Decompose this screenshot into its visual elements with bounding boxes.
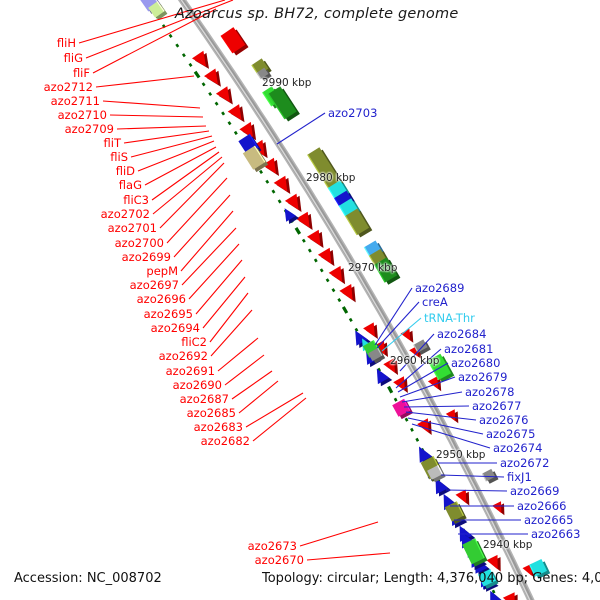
gene-label-left-19[interactable]: azo2695 xyxy=(144,308,193,320)
gene-feature[interactable] xyxy=(192,51,209,69)
gene-label-left-21[interactable]: fliC2 xyxy=(181,336,207,348)
gene-label-left-6[interactable]: azo2709 xyxy=(65,123,114,135)
gene-label-right-13[interactable]: fixJ1 xyxy=(507,471,532,483)
gene-label-left-10[interactable]: flaG xyxy=(119,179,142,191)
gene-label-right-1[interactable]: creA xyxy=(422,296,448,308)
gene-feature[interactable] xyxy=(377,369,392,387)
gene-label-left-7[interactable]: fliT xyxy=(104,137,121,149)
genome-summary-text: Topology: circular; Length: 4,376,040 bp… xyxy=(262,571,600,586)
gene-label-right-14[interactable]: azo2669 xyxy=(510,485,559,497)
gene-label-left-24[interactable]: azo2690 xyxy=(173,379,222,391)
gene-feature[interactable] xyxy=(307,230,324,248)
gene-feature[interactable] xyxy=(216,86,233,104)
gene-label-left-22[interactable]: azo2692 xyxy=(159,350,208,362)
gene-label-left-26[interactable]: azo2685 xyxy=(187,407,236,419)
gene-label-left-27[interactable]: azo2683 xyxy=(194,421,243,433)
gene-label-left-16[interactable]: pepM xyxy=(146,265,178,277)
gene-label-left-4[interactable]: azo2711 xyxy=(51,95,100,107)
scale-tick-label-3: 2960 kbp xyxy=(390,355,439,367)
gene-feature[interactable] xyxy=(363,322,378,339)
scale-tick-label-0: 2990 kbp xyxy=(262,77,311,89)
gene-label-left-2[interactable]: fliF xyxy=(73,67,90,79)
gene-label-left-13[interactable]: azo2701 xyxy=(108,222,157,234)
gene-label-right-10[interactable]: azo2675 xyxy=(486,428,535,440)
gene-label-left-11[interactable]: fliC3 xyxy=(123,194,149,206)
gene-label-right-3[interactable]: azo2684 xyxy=(437,328,486,340)
gene-label-left-14[interactable]: azo2700 xyxy=(115,237,164,249)
gene-feature[interactable] xyxy=(204,69,221,87)
gene-label-left-12[interactable]: azo2702 xyxy=(101,208,150,220)
gene-feature[interactable] xyxy=(296,212,313,230)
gene-feature[interactable] xyxy=(339,284,355,302)
gene-feature[interactable] xyxy=(503,592,518,600)
scale-tick-label-4: 2950 kbp xyxy=(436,449,485,461)
gene-label-left-1[interactable]: fliG xyxy=(64,52,83,64)
gene-label-right-17[interactable]: azo2663 xyxy=(531,528,580,540)
gene-label-right-8[interactable]: azo2677 xyxy=(472,400,521,412)
gene-feature[interactable] xyxy=(221,27,249,55)
gene-label-left-17[interactable]: azo2697 xyxy=(130,279,179,291)
scale-tick-label-1: 2980 kbp xyxy=(306,172,355,184)
gene-label-left-8[interactable]: fliS xyxy=(110,151,128,163)
gene-label-right-9[interactable]: azo2676 xyxy=(479,414,528,426)
gene-label-left-28[interactable]: azo2682 xyxy=(201,435,250,447)
gene-label-left-5[interactable]: azo2710 xyxy=(58,109,107,121)
gene-label-left-18[interactable]: azo2696 xyxy=(137,293,186,305)
scale-tick-label-5: 2940 kbp xyxy=(483,539,532,551)
gene-label-extra-0[interactable]: azo2703 xyxy=(328,107,377,119)
gene-feature[interactable] xyxy=(274,176,291,194)
gene-label-right-6[interactable]: azo2679 xyxy=(458,371,507,383)
page-title: Azoarcus sp. BH72, complete genome xyxy=(175,6,458,22)
gene-feature[interactable] xyxy=(228,104,245,122)
gene-label-right-11[interactable]: azo2674 xyxy=(493,442,542,454)
scale-tick-label-2: 2970 kbp xyxy=(348,262,397,274)
gene-label-left-23[interactable]: azo2691 xyxy=(166,365,215,377)
gene-label-right-16[interactable]: azo2665 xyxy=(524,514,573,526)
genome-map-viewer: Azoarcus sp. BH72, complete genome fliHf… xyxy=(0,0,600,600)
accession-text: Accession: NC_008702 xyxy=(14,571,162,586)
gene-feature[interactable] xyxy=(436,478,452,496)
gene-label-right-5[interactable]: azo2680 xyxy=(451,357,500,369)
gene-label-left-0[interactable]: fliH xyxy=(57,37,76,49)
gene-label-right-12[interactable]: azo2672 xyxy=(500,457,549,469)
gene-label-right-7[interactable]: azo2678 xyxy=(465,386,514,398)
gene-feature[interactable] xyxy=(329,266,345,284)
gene-label-left-30[interactable]: azo2670 xyxy=(255,554,304,566)
gene-label-left-9[interactable]: fliD xyxy=(116,165,135,177)
gene-feature[interactable] xyxy=(285,208,299,224)
gene-label-right-4[interactable]: azo2681 xyxy=(444,343,493,355)
gene-feature[interactable] xyxy=(285,194,302,212)
gene-label-left-3[interactable]: azo2712 xyxy=(44,81,93,93)
gene-feature[interactable] xyxy=(318,248,335,266)
gene-label-left-15[interactable]: azo2699 xyxy=(122,251,171,263)
gene-label-left-25[interactable]: azo2687 xyxy=(180,393,229,405)
gene-label-right-0[interactable]: azo2689 xyxy=(415,282,464,294)
gene-label-right-15[interactable]: azo2666 xyxy=(517,500,566,512)
gene-label-right-2[interactable]: tRNA-Thr xyxy=(424,312,475,324)
gene-label-left-20[interactable]: azo2694 xyxy=(151,322,200,334)
gene-feature[interactable] xyxy=(401,329,414,343)
gene-label-left-29[interactable]: azo2673 xyxy=(248,540,297,552)
gene-feature[interactable] xyxy=(492,501,504,515)
